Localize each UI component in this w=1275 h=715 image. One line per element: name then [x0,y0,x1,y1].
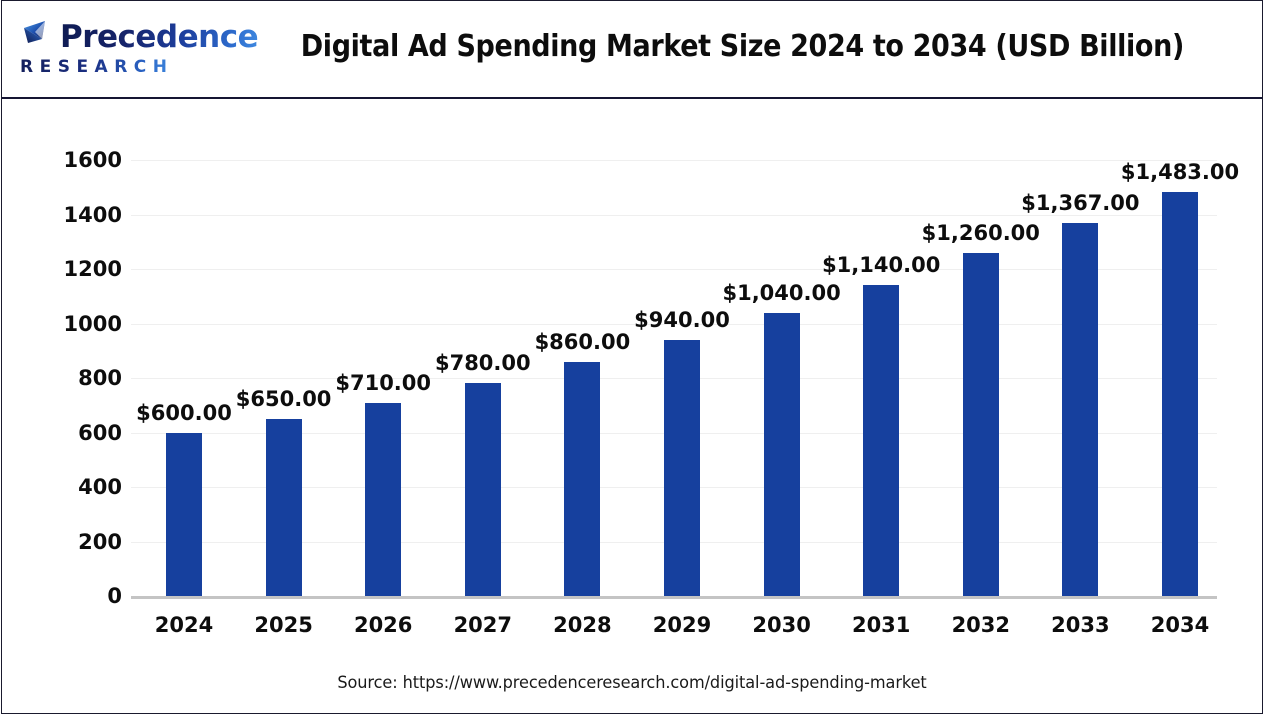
logo-wordmark: Precedence [60,19,258,55]
bar-value-label: $710.00 [335,371,431,395]
y-axis-tick-label: 400 [30,475,122,499]
plot-area: 16001400120010008006004002000 $600.00$65… [2,101,1262,713]
y-axis-tick-label: 0 [30,584,122,608]
x-axis-tick-label: 2028 [553,613,611,637]
page-header: Precedence RESEARCH Digital Ad Spending … [2,1,1262,99]
x-axis-tick-label: 2034 [1151,613,1209,637]
bar-value-label: $1,040.00 [722,281,840,305]
bar-value-label: $1,140.00 [822,253,940,277]
bar[interactable] [664,340,700,596]
chart-title: Digital Ad Spending Market Size 2024 to … [301,29,1179,64]
bar-value-label: $600.00 [136,401,232,425]
bar[interactable] [365,403,401,596]
bar[interactable] [963,253,999,596]
y-axis-tick-label: 1000 [30,312,122,336]
bar[interactable] [564,362,600,596]
chart-frame: Precedence RESEARCH Digital Ad Spending … [1,0,1263,714]
precedence-arrow-mark-icon [18,17,58,55]
x-axis-tick-label: 2032 [952,613,1010,637]
bar-value-label: $860.00 [535,330,631,354]
bar-value-label: $940.00 [634,308,730,332]
bar-value-label: $650.00 [236,387,332,411]
x-axis-tick-label: 2025 [254,613,312,637]
bar[interactable] [166,433,202,597]
bar-value-label: $780.00 [435,351,531,375]
y-axis-tick-label: 200 [30,530,122,554]
y-axis-tick-label: 800 [30,366,122,390]
logo-subtext: RESEARCH [20,57,174,77]
x-axis-tick-label: 2033 [1051,613,1109,637]
gridline [131,160,1217,161]
chart-page: Precedence RESEARCH Digital Ad Spending … [0,0,1275,715]
bar-value-label: $1,260.00 [922,221,1040,245]
x-axis-tick-label: 2024 [155,613,213,637]
precedence-research-logo: Precedence RESEARCH [16,19,226,81]
x-axis-tick-label: 2027 [454,613,512,637]
y-axis-tick-label: 1400 [30,203,122,227]
bar[interactable] [1062,223,1098,596]
bar[interactable] [465,383,501,596]
source-note: Source: https://www.precedenceresearch.c… [34,673,1231,693]
bar[interactable] [764,313,800,596]
y-axis-tick-label: 600 [30,421,122,445]
bar[interactable] [1162,192,1198,596]
axis-baseline [131,596,1217,599]
y-axis-tick-label: 1600 [30,148,122,172]
gridline [131,269,1217,270]
bar-value-label: $1,483.00 [1121,160,1239,184]
x-axis-tick-label: 2030 [752,613,810,637]
bar-value-label: $1,367.00 [1021,191,1139,215]
x-axis-tick-label: 2029 [653,613,711,637]
bar[interactable] [266,419,302,596]
y-axis-tick-label: 1200 [30,257,122,281]
x-axis-tick-label: 2026 [354,613,412,637]
bar[interactable] [863,285,899,596]
x-axis-tick-label: 2031 [852,613,910,637]
